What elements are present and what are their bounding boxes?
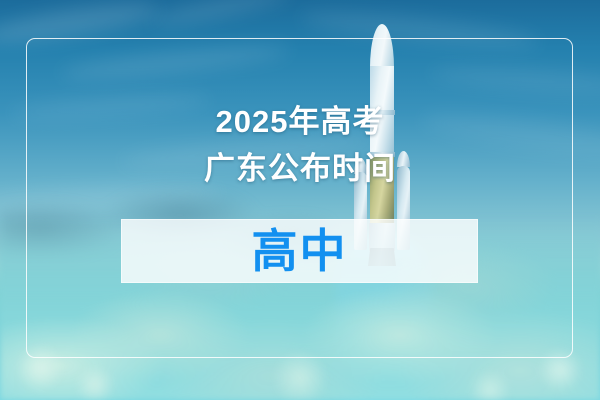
banner-image: 2025年高考 广东公布时间 高中 bbox=[0, 0, 600, 400]
page-title-line-2: 广东公布时间 bbox=[0, 145, 600, 192]
rocket-nose-cone bbox=[370, 24, 394, 70]
page-title-line-1: 2025年高考 bbox=[0, 98, 600, 145]
page-title: 2025年高考 广东公布时间 bbox=[0, 98, 600, 192]
category-tag-label: 高中 bbox=[252, 228, 348, 274]
category-tag-bar[interactable]: 高中 bbox=[121, 219, 478, 283]
